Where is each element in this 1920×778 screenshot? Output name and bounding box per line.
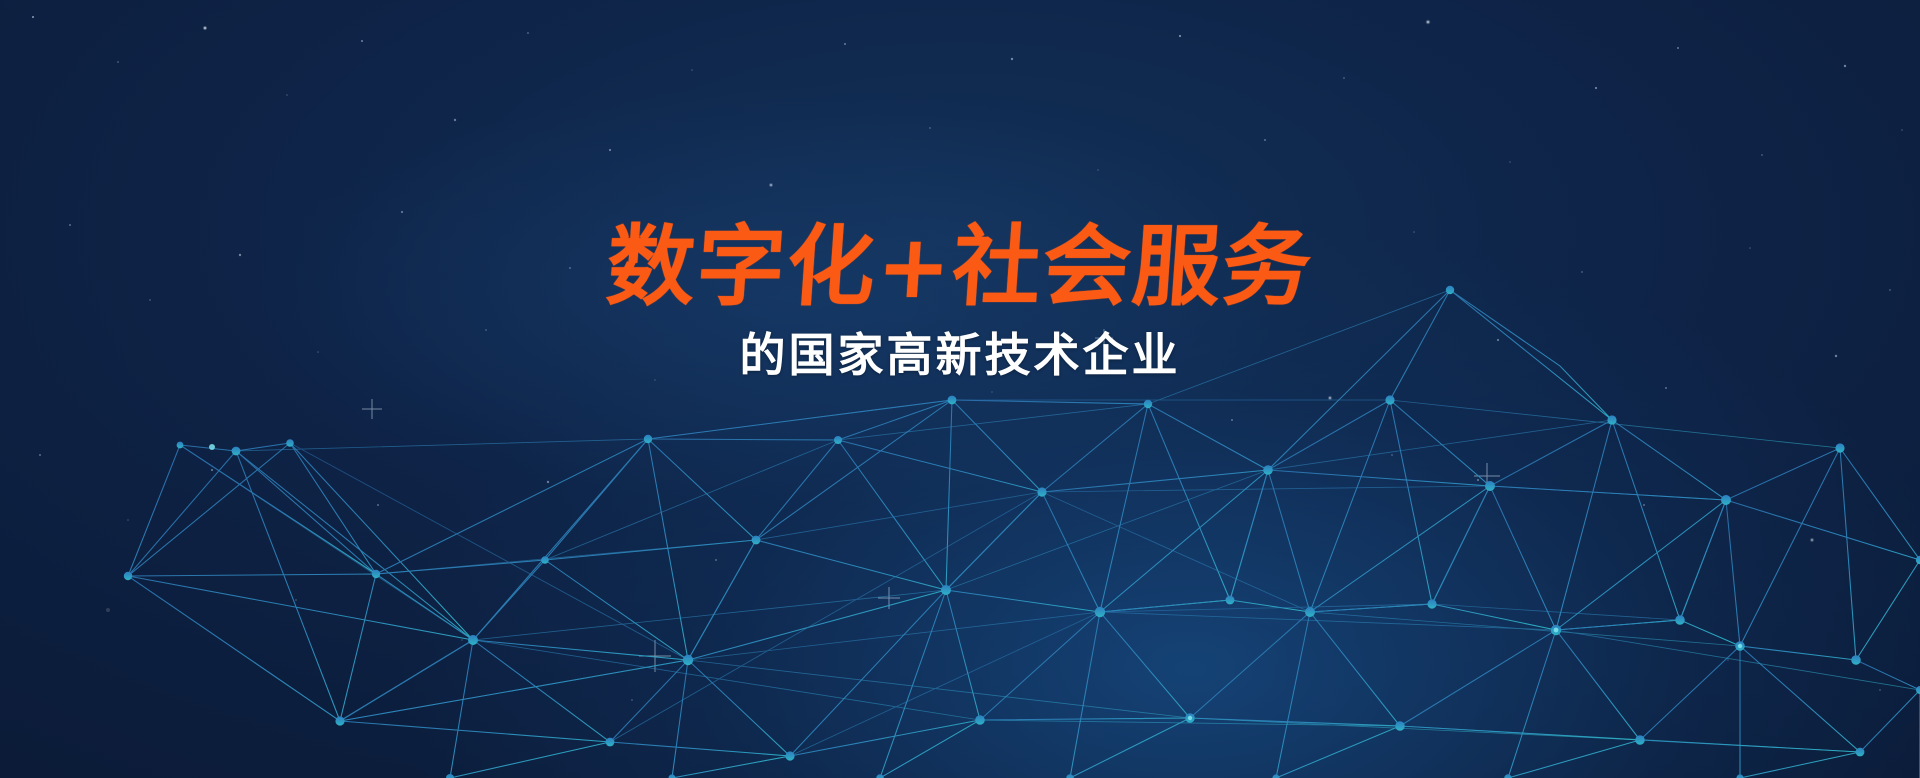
hero-banner: 数字化+社会服务 的国家高新技术企业 [0, 0, 1920, 778]
banner-content: 数字化+社会服务 的国家高新技术企业 [0, 0, 1920, 778]
page-title: 数字化+社会服务 [604, 222, 1316, 312]
page-subtitle: 的国家高新技术企业 [740, 328, 1181, 383]
